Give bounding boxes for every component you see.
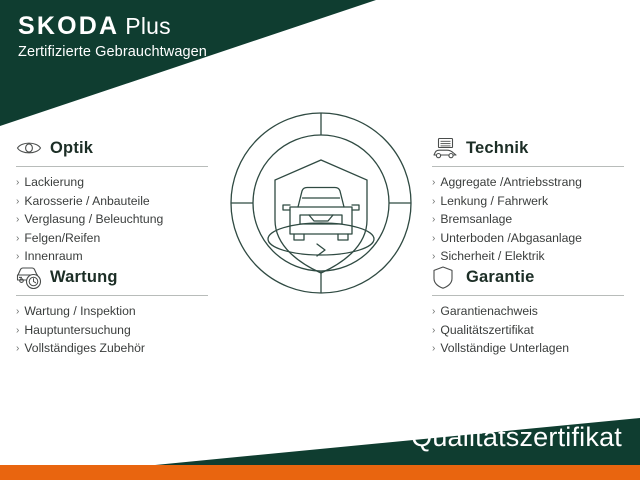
section-garantie: Garantie ›Garantienachweis ›Qualitätszer… (432, 262, 632, 359)
chevron-right-icon: › (16, 340, 19, 358)
section-garantie-title: Garantie (466, 268, 535, 287)
list-item-label: Felgen/Reifen (24, 230, 100, 248)
car-service-clock-icon (16, 263, 46, 291)
list-item: ›Unterboden /Abgasanlage (432, 230, 632, 249)
section-optik-header: Optik (16, 133, 216, 163)
chevron-right-icon: › (16, 322, 19, 340)
section-wartung-rule (16, 295, 208, 296)
list-item-label: Aggregate /Antriebsstrang (440, 174, 582, 192)
list-item-label: Wartung / Inspektion (24, 303, 135, 321)
brand-name: SKODA (18, 12, 119, 40)
list-item: ›Vollständige Unterlagen (432, 340, 632, 359)
list-item-label: Bremsanlage (440, 211, 512, 229)
car-lift-icon (432, 134, 462, 162)
brand-logo: SKODAPlus Zertifizierte Gebrauchtwagen (18, 14, 207, 60)
chevron-right-icon: › (432, 193, 435, 211)
chevron-right-icon: › (432, 230, 435, 248)
list-item-label: Lenkung / Fahrwerk (440, 193, 548, 211)
list-item-label: Unterboden /Abgasanlage (440, 230, 582, 248)
chevron-right-icon: › (16, 303, 19, 321)
list-item-label: Lackierung (24, 174, 84, 192)
eye-icon (16, 134, 46, 162)
page-title: Qualitätszertifikat (411, 422, 622, 453)
list-item-label: Vollständige Unterlagen (440, 340, 569, 358)
section-technik-title: Technik (466, 139, 529, 158)
list-item-label: Karosserie / Anbauteile (24, 193, 149, 211)
list-item: ›Hauptuntersuchung (16, 322, 216, 341)
section-garantie-header: Garantie (432, 262, 632, 292)
chevron-right-icon: › (432, 340, 435, 358)
certificate-page: SKODAPlus Zertifizierte Gebrauchtwagen O… (0, 0, 640, 480)
chevron-right-icon: › (432, 322, 435, 340)
list-item: ›Bremsanlage (432, 211, 632, 230)
list-item-label: Hauptuntersuchung (24, 322, 130, 340)
chevron-right-icon: › (16, 174, 19, 192)
section-wartung: Wartung ›Wartung / Inspektion ›Hauptunte… (16, 262, 216, 359)
section-optik-rule (16, 166, 208, 167)
list-item-label: Vollständiges Zubehör (24, 340, 145, 358)
list-item: ›Lackierung (16, 174, 216, 193)
brand-tagline: Zertifizierte Gebrauchtwagen (18, 45, 207, 60)
section-wartung-title: Wartung (50, 268, 118, 287)
section-optik: Optik ›Lackierung ›Karosserie / Anbautei… (16, 133, 216, 267)
shield-car-orbit-emblem (226, 108, 416, 298)
brand-suffix: Plus (125, 13, 171, 39)
list-item-label: Verglasung / Beleuchtung (24, 211, 163, 229)
list-item: ›Wartung / Inspektion (16, 303, 216, 322)
list-item: ›Qualitätszertifikat (432, 322, 632, 341)
list-item-label: Garantienachweis (440, 303, 538, 321)
chevron-right-icon: › (432, 174, 435, 192)
section-technik: Technik ›Aggregate /Antriebsstrang ›Lenk… (432, 133, 632, 267)
chevron-right-icon: › (16, 193, 19, 211)
section-garantie-rule (432, 295, 624, 296)
list-item: ›Vollständiges Zubehör (16, 340, 216, 359)
chevron-right-icon: › (432, 303, 435, 321)
section-technik-header: Technik (432, 133, 632, 163)
list-item: ›Lenkung / Fahrwerk (432, 193, 632, 212)
list-item: ›Garantienachweis (432, 303, 632, 322)
list-item: ›Aggregate /Antriebsstrang (432, 174, 632, 193)
list-item: ›Karosserie / Anbauteile (16, 193, 216, 212)
orange-accent-bar (0, 465, 640, 480)
section-wartung-header: Wartung (16, 262, 216, 292)
section-optik-title: Optik (50, 139, 93, 158)
section-technik-rule (432, 166, 624, 167)
brand-logo-row-primary: SKODAPlus (18, 14, 207, 39)
chevron-right-icon: › (16, 230, 19, 248)
bottom-green-wedge (0, 340, 640, 480)
list-item: ›Verglasung / Beleuchtung (16, 211, 216, 230)
chevron-right-icon: › (432, 211, 435, 229)
list-item-label: Qualitätszertifikat (440, 322, 533, 340)
shield-icon (432, 263, 462, 291)
list-item: ›Felgen/Reifen (16, 230, 216, 249)
chevron-right-icon: › (16, 211, 19, 229)
